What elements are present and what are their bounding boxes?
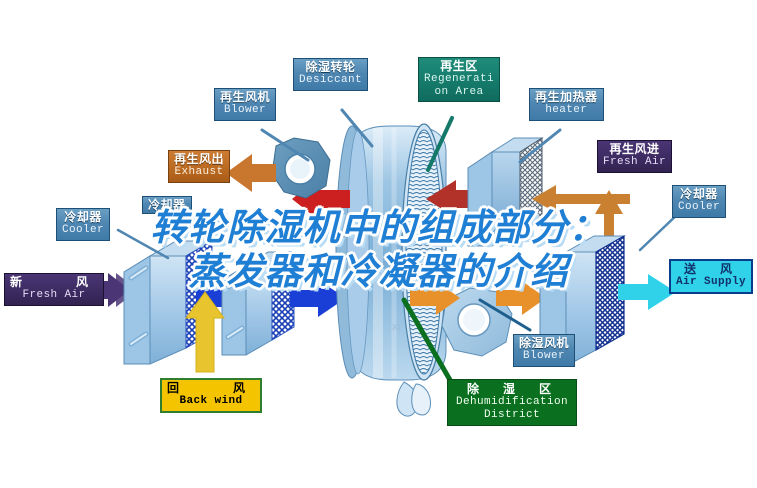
label-dehumidification-blower[interactable]: 除湿风机 Blower [513, 334, 575, 367]
label-desiccant-rotor-en: Desiccant [299, 74, 362, 86]
label-cooler-right-en: Cooler [678, 201, 720, 213]
label-back-wind[interactable]: 回 风 Back wind [160, 378, 262, 413]
label-regeneration-area[interactable]: 再生区 Regenerati on Area [418, 57, 500, 102]
label-cooler-left-secondary[interactable]: 冷却器 [142, 196, 192, 214]
label-cooler-left-en: Cooler [62, 224, 104, 236]
label-dehumidification-district[interactable]: 除 湿 区 Dehumidification District [447, 379, 577, 426]
label-exhaust[interactable]: 再生风出 Exhaust [168, 150, 230, 183]
watermark-text: xt [392, 321, 401, 333]
label-regeneration-area-en1: Regenerati [424, 73, 494, 85]
label-regeneration-area-cn: 再生区 [424, 60, 494, 73]
label-back-wind-en: Back wind [167, 395, 255, 407]
label-fresh-air-inlet[interactable]: 新 风 Fresh Air [4, 273, 104, 306]
label-desiccant-rotor-cn: 除湿转轮 [299, 61, 362, 74]
label-regeneration-area-en2: on Area [424, 86, 494, 98]
label-dehumidification-district-en2: District [456, 409, 568, 421]
label-regeneration-blower-en: Blower [220, 104, 270, 116]
label-regeneration-heater[interactable]: 再生加热器 heater [529, 88, 604, 121]
label-cooler-right-cn: 冷却器 [678, 188, 720, 201]
label-regeneration-fresh-air-cn: 再生风进 [603, 143, 666, 156]
cooler-coil-block [222, 252, 294, 355]
flow-arrow-air-supply [618, 274, 676, 310]
diagram-canvas: xt [0, 0, 757, 488]
label-dehumidification-blower-en: Blower [519, 350, 569, 362]
regeneration-blower-fan [272, 138, 330, 198]
label-air-supply-cn: 送 风 [676, 263, 746, 276]
label-air-supply-en: Air Supply [676, 276, 746, 288]
label-exhaust-cn: 再生风出 [174, 153, 224, 166]
schematic-illustration: xt [0, 0, 757, 488]
label-cooler-left-secondary-cn: 冷却器 [148, 199, 186, 212]
label-fresh-air-inlet-en: Fresh Air [10, 289, 98, 301]
label-regeneration-fresh-air[interactable]: 再生风进 Fresh Air [597, 140, 672, 173]
label-back-wind-cn: 回 风 [167, 382, 255, 395]
label-regeneration-fresh-air-en: Fresh Air [603, 156, 666, 168]
label-regeneration-blower[interactable]: 再生风机 Blower [214, 88, 276, 121]
label-dehumidification-blower-cn: 除湿风机 [519, 337, 569, 350]
label-cooler-left-cn: 冷却器 [62, 211, 104, 224]
label-fresh-air-inlet-cn: 新 风 [10, 276, 98, 289]
label-regeneration-heater-en: heater [535, 104, 598, 116]
label-cooler-right[interactable]: 冷却器 Cooler [672, 185, 726, 218]
flow-arrow-exhaust [226, 154, 276, 192]
label-dehumidification-district-cn: 除 湿 区 [456, 383, 568, 396]
label-desiccant-rotor[interactable]: 除湿转轮 Desiccant [293, 58, 368, 91]
label-exhaust-en: Exhaust [174, 166, 224, 178]
label-regeneration-heater-cn: 再生加热器 [535, 91, 598, 104]
label-regeneration-blower-cn: 再生风机 [220, 91, 270, 104]
label-air-supply[interactable]: 送 风 Air Supply [669, 259, 753, 294]
label-dehumidification-district-en1: Dehumidification [456, 396, 568, 408]
label-cooler-left[interactable]: 冷却器 Cooler [56, 208, 110, 241]
